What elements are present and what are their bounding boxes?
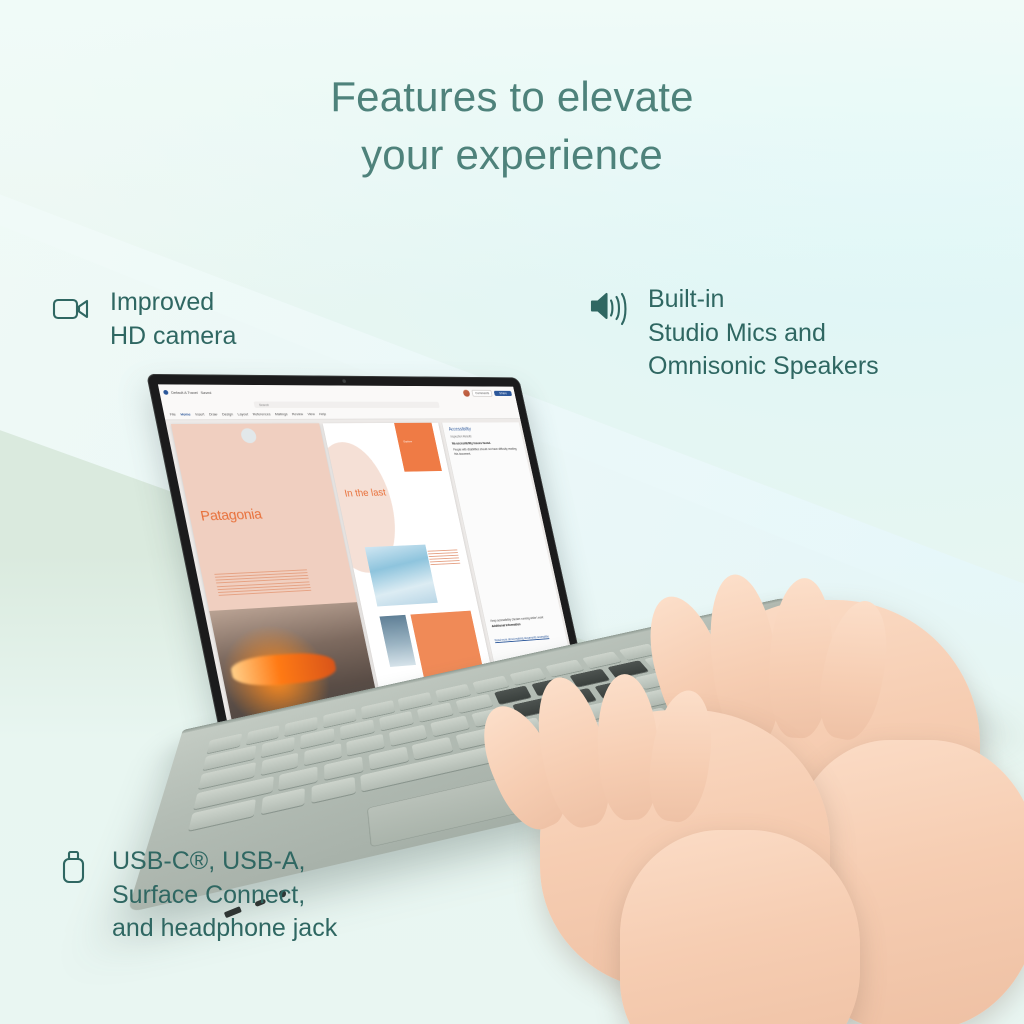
callout-ports-line-3: and headphone jack (112, 912, 337, 946)
callout-ports: USB-C®, USB-A, Surface Connect, and head… (52, 845, 337, 946)
headline-line-2: your experience (0, 126, 1024, 184)
callout-camera-text: Improved HD camera (110, 286, 236, 353)
document-name[interactable]: Default A Travel (171, 390, 199, 395)
page-title: Features to elevate your experience (0, 68, 1024, 184)
tab-file[interactable]: File (170, 413, 177, 417)
tab-insert[interactable]: Insert (195, 413, 205, 417)
video-camera-icon (50, 288, 92, 330)
callout-audio-line-1: Built-in (648, 283, 879, 317)
word-titlebar: Default A Travel Saved Comments Share (158, 384, 516, 400)
usb-plug-icon (52, 847, 94, 889)
tab-view[interactable]: View (307, 412, 315, 416)
page-right-badge: Explore (394, 423, 442, 472)
search-input[interactable]: Search (254, 402, 440, 408)
left-hand (430, 640, 850, 1024)
accessibility-result-body: People with disabilities should not have… (453, 447, 522, 456)
tab-draw[interactable]: Draw (209, 413, 218, 417)
accessibility-pane-subheading: Inspection Results (450, 434, 518, 438)
tab-review[interactable]: Review (292, 412, 304, 416)
accessibility-result-title: No accessibility issues found. (452, 441, 520, 446)
webcam-icon (342, 379, 346, 383)
comments-button[interactable]: Comments (471, 390, 493, 397)
save-state: Saved (200, 390, 212, 395)
page-right-body-text (427, 550, 460, 567)
callout-audio: Built-in Studio Mics and Omnisonic Speak… (588, 283, 879, 384)
headline-line-1: Features to elevate (0, 68, 1024, 126)
tab-references[interactable]: References (252, 413, 270, 417)
page-right-title: In the last (343, 487, 386, 499)
callout-ports-text: USB-C®, USB-A, Surface Connect, and head… (112, 845, 337, 946)
titlebar-spacer (214, 392, 461, 393)
page-right-photo-figure (379, 615, 416, 667)
speaker-waves-icon (588, 285, 630, 327)
avatar[interactable] (463, 390, 471, 397)
callout-camera: Improved HD camera (50, 286, 236, 353)
tab-design[interactable]: Design (222, 413, 234, 417)
callout-ports-line-2: Surface Connect, (112, 879, 337, 913)
tab-layout[interactable]: Layout (237, 413, 248, 417)
tab-mailings[interactable]: Mailings (275, 413, 288, 417)
page-right-badge-label: Explore (403, 439, 412, 443)
share-button[interactable]: Share (494, 390, 512, 396)
callout-audio-line-2: Studio Mics and (648, 317, 879, 351)
page-left-title: Patagonia (199, 507, 263, 525)
tab-home[interactable]: Home (180, 413, 191, 417)
callout-ports-line-1: USB-C®, USB-A, (112, 845, 337, 879)
callout-audio-text: Built-in Studio Mics and Omnisonic Speak… (648, 283, 879, 384)
word-search-bar: Search (161, 399, 518, 409)
callout-audio-line-3: Omnisonic Speakers (648, 350, 879, 384)
callout-camera-line-2: HD camera (110, 320, 236, 354)
accessibility-pane-heading: Accessibility (448, 427, 516, 433)
callout-camera-line-1: Improved (110, 286, 236, 320)
word-app-icon (163, 390, 169, 395)
page-right-photo-glacier (364, 545, 437, 607)
tab-help[interactable]: Help (319, 412, 327, 416)
